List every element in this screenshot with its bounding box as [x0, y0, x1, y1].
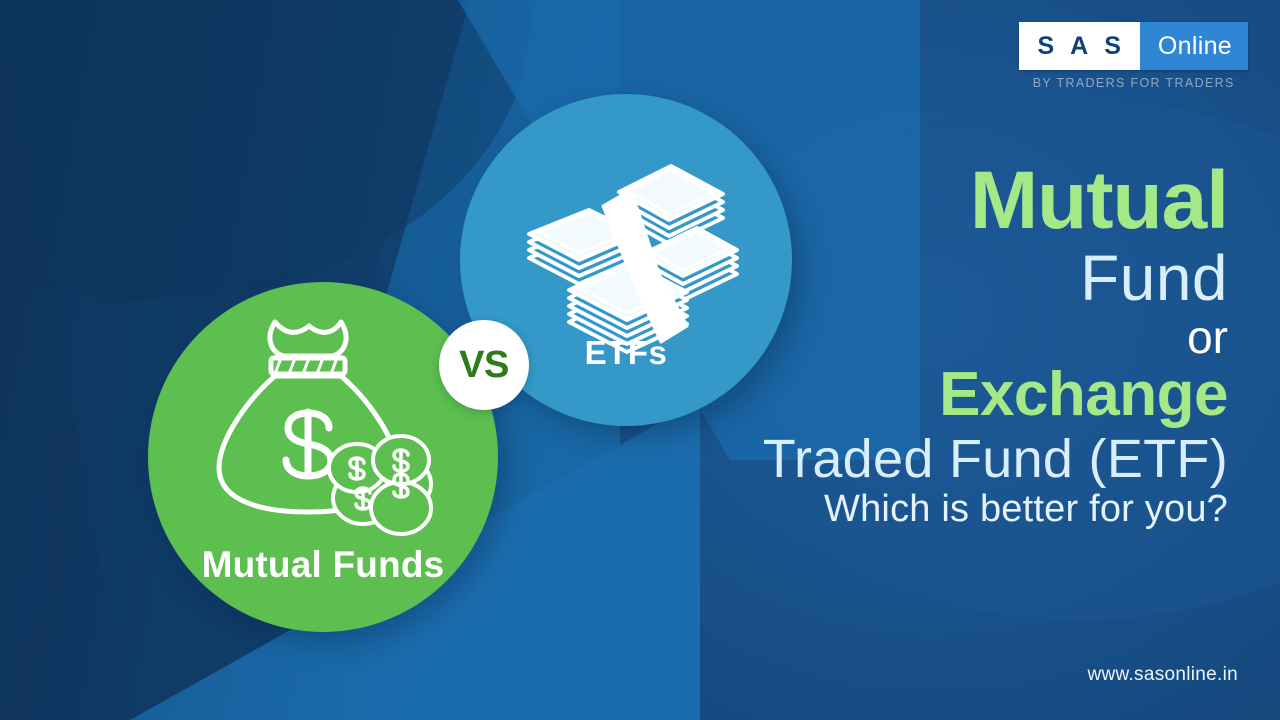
- logo-box: S A S Online: [1019, 22, 1248, 70]
- headline-line-mutual: Mutual: [508, 160, 1228, 242]
- mutual-funds-label: Mutual Funds: [148, 544, 498, 586]
- vs-label: VS: [459, 344, 509, 387]
- headline-block: Mutual Fund or Exchange Traded Fund (ETF…: [508, 160, 1228, 528]
- headline-line-traded: Traded Fund (ETF): [508, 432, 1228, 486]
- website-url[interactable]: www.sasonline.in: [1087, 664, 1238, 686]
- infographic-banner: S A S Online BY TRADERS FOR TRADERS: [0, 0, 1280, 720]
- brand-logo[interactable]: S A S Online BY TRADERS FOR TRADERS: [1019, 22, 1248, 90]
- logo-tagline: BY TRADERS FOR TRADERS: [1019, 76, 1248, 90]
- money-bag-with-coins-icon: [205, 308, 441, 545]
- headline-line-question: Which is better for you?: [508, 490, 1228, 528]
- headline-line-exchange: Exchange: [508, 364, 1228, 426]
- headline-line-or: or: [508, 314, 1228, 360]
- mutual-funds-circle: Mutual Funds: [148, 282, 498, 632]
- headline-line-fund: Fund: [508, 246, 1228, 310]
- logo-primary-text: S A S: [1019, 22, 1139, 70]
- logo-secondary-text: Online: [1140, 22, 1248, 70]
